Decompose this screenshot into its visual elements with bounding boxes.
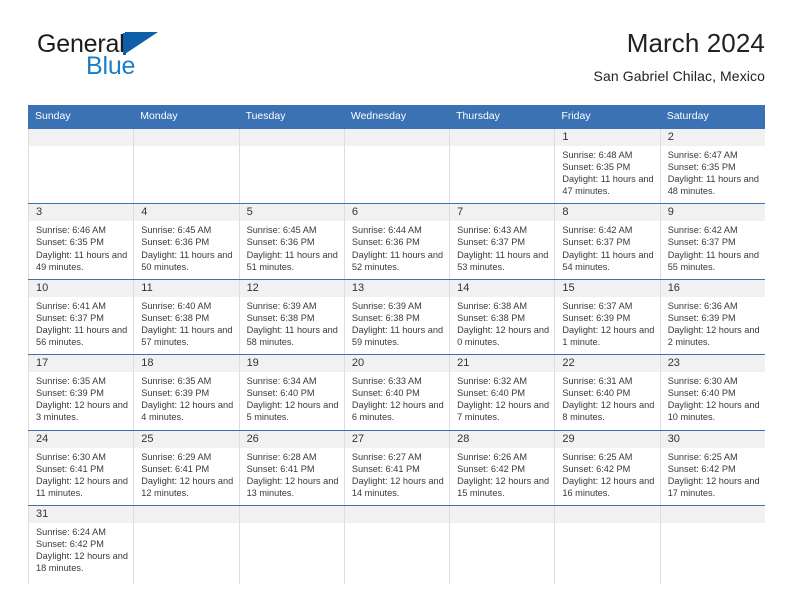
daylight-text: Daylight: 11 hours and 58 minutes.	[247, 324, 340, 348]
day-cell[interactable]	[239, 506, 344, 584]
day-details: Sunrise: 6:48 AMSunset: 6:35 PMDaylight:…	[555, 146, 659, 203]
day-details	[345, 146, 449, 155]
day-details: Sunrise: 6:38 AMSunset: 6:38 PMDaylight:…	[450, 297, 554, 354]
day-cell[interactable]	[660, 506, 765, 584]
sunset-text: Sunset: 6:40 PM	[247, 387, 340, 399]
day-cell[interactable]: 19Sunrise: 6:34 AMSunset: 6:40 PMDayligh…	[239, 355, 344, 429]
week-row: 17Sunrise: 6:35 AMSunset: 6:39 PMDayligh…	[28, 354, 765, 429]
sunset-text: Sunset: 6:41 PM	[36, 463, 129, 475]
day-number	[661, 506, 765, 523]
day-number: 24	[29, 431, 133, 448]
sunrise-text: Sunrise: 6:35 AM	[36, 375, 129, 387]
sunrise-text: Sunrise: 6:44 AM	[352, 224, 445, 236]
day-details	[134, 523, 238, 532]
day-details	[345, 523, 449, 532]
day-details: Sunrise: 6:44 AMSunset: 6:36 PMDaylight:…	[345, 221, 449, 278]
day-number	[450, 506, 554, 523]
day-cell[interactable]: 3Sunrise: 6:46 AMSunset: 6:35 PMDaylight…	[28, 204, 133, 278]
day-cell[interactable]: 30Sunrise: 6:25 AMSunset: 6:42 PMDayligh…	[660, 431, 765, 505]
weekday-thursday: Thursday	[449, 105, 554, 128]
daylight-text: Daylight: 11 hours and 56 minutes.	[36, 324, 129, 348]
day-cell[interactable]: 8Sunrise: 6:42 AMSunset: 6:37 PMDaylight…	[554, 204, 659, 278]
day-details: Sunrise: 6:31 AMSunset: 6:40 PMDaylight:…	[555, 372, 659, 429]
daylight-text: Daylight: 12 hours and 2 minutes.	[668, 324, 761, 348]
page-title: March 2024	[594, 26, 765, 60]
daylight-text: Daylight: 12 hours and 1 minute.	[562, 324, 655, 348]
sunrise-text: Sunrise: 6:34 AM	[247, 375, 340, 387]
daylight-text: Daylight: 12 hours and 3 minutes.	[36, 399, 129, 423]
day-number: 26	[240, 431, 344, 448]
day-cell[interactable]	[28, 129, 133, 203]
sunset-text: Sunset: 6:42 PM	[668, 463, 761, 475]
sunset-text: Sunset: 6:37 PM	[457, 236, 550, 248]
sunrise-text: Sunrise: 6:48 AM	[562, 149, 655, 161]
day-number: 29	[555, 431, 659, 448]
day-number: 31	[29, 506, 133, 523]
sunrise-text: Sunrise: 6:43 AM	[457, 224, 550, 236]
day-cell[interactable]: 14Sunrise: 6:38 AMSunset: 6:38 PMDayligh…	[449, 280, 554, 354]
day-cell[interactable]: 26Sunrise: 6:28 AMSunset: 6:41 PMDayligh…	[239, 431, 344, 505]
sunset-text: Sunset: 6:40 PM	[562, 387, 655, 399]
day-cell[interactable]: 15Sunrise: 6:37 AMSunset: 6:39 PMDayligh…	[554, 280, 659, 354]
calendar-grid: Sunday Monday Tuesday Wednesday Thursday…	[28, 105, 765, 584]
page-subtitle: San Gabriel Chilac, Mexico	[594, 66, 765, 86]
sunset-text: Sunset: 6:41 PM	[247, 463, 340, 475]
day-details: Sunrise: 6:39 AMSunset: 6:38 PMDaylight:…	[240, 297, 344, 354]
day-cell[interactable]	[133, 129, 238, 203]
day-number: 16	[661, 280, 765, 297]
day-number	[555, 506, 659, 523]
day-details: Sunrise: 6:34 AMSunset: 6:40 PMDaylight:…	[240, 372, 344, 429]
sunrise-text: Sunrise: 6:32 AM	[457, 375, 550, 387]
day-details: Sunrise: 6:39 AMSunset: 6:38 PMDaylight:…	[345, 297, 449, 354]
sunrise-text: Sunrise: 6:39 AM	[247, 300, 340, 312]
day-number: 9	[661, 204, 765, 221]
sunset-text: Sunset: 6:39 PM	[668, 312, 761, 324]
day-details: Sunrise: 6:42 AMSunset: 6:37 PMDaylight:…	[661, 221, 765, 278]
day-cell[interactable]	[449, 506, 554, 584]
day-cell[interactable]: 10Sunrise: 6:41 AMSunset: 6:37 PMDayligh…	[28, 280, 133, 354]
day-cell[interactable]: 17Sunrise: 6:35 AMSunset: 6:39 PMDayligh…	[28, 355, 133, 429]
week-row: 31Sunrise: 6:24 AMSunset: 6:42 PMDayligh…	[28, 505, 765, 584]
week-row: 1Sunrise: 6:48 AMSunset: 6:35 PMDaylight…	[28, 128, 765, 203]
day-cell[interactable]: 24Sunrise: 6:30 AMSunset: 6:41 PMDayligh…	[28, 431, 133, 505]
daylight-text: Daylight: 12 hours and 17 minutes.	[668, 475, 761, 499]
day-cell[interactable]: 16Sunrise: 6:36 AMSunset: 6:39 PMDayligh…	[660, 280, 765, 354]
day-details	[134, 146, 238, 155]
weekday-saturday: Saturday	[660, 105, 765, 128]
daylight-text: Daylight: 12 hours and 15 minutes.	[457, 475, 550, 499]
daylight-text: Daylight: 11 hours and 54 minutes.	[562, 249, 655, 273]
day-cell[interactable]: 31Sunrise: 6:24 AMSunset: 6:42 PMDayligh…	[28, 506, 133, 584]
daylight-text: Daylight: 11 hours and 48 minutes.	[668, 173, 761, 197]
daylight-text: Daylight: 12 hours and 10 minutes.	[668, 399, 761, 423]
sunrise-text: Sunrise: 6:30 AM	[668, 375, 761, 387]
day-number: 27	[345, 431, 449, 448]
day-cell[interactable]	[344, 506, 449, 584]
day-details	[450, 146, 554, 155]
sunset-text: Sunset: 6:38 PM	[247, 312, 340, 324]
day-number: 1	[555, 129, 659, 146]
daylight-text: Daylight: 12 hours and 0 minutes.	[457, 324, 550, 348]
daylight-text: Daylight: 12 hours and 5 minutes.	[247, 399, 340, 423]
day-cell[interactable]: 1Sunrise: 6:48 AMSunset: 6:35 PMDaylight…	[554, 129, 659, 203]
sunset-text: Sunset: 6:39 PM	[36, 387, 129, 399]
sunset-text: Sunset: 6:36 PM	[141, 236, 234, 248]
sunrise-text: Sunrise: 6:25 AM	[562, 451, 655, 463]
day-number: 14	[450, 280, 554, 297]
day-number: 22	[555, 355, 659, 372]
sunrise-text: Sunrise: 6:33 AM	[352, 375, 445, 387]
day-details: Sunrise: 6:47 AMSunset: 6:35 PMDaylight:…	[661, 146, 765, 203]
calendar-page: General Blue March 2024 San Gabriel Chil…	[0, 0, 792, 612]
day-details: Sunrise: 6:25 AMSunset: 6:42 PMDaylight:…	[555, 448, 659, 505]
day-number: 5	[240, 204, 344, 221]
day-details: Sunrise: 6:41 AMSunset: 6:37 PMDaylight:…	[29, 297, 133, 354]
brand-word-blue: Blue	[86, 52, 135, 80]
day-number: 3	[29, 204, 133, 221]
sunrise-text: Sunrise: 6:42 AM	[562, 224, 655, 236]
sunset-text: Sunset: 6:37 PM	[36, 312, 129, 324]
sunrise-text: Sunrise: 6:30 AM	[36, 451, 129, 463]
day-details: Sunrise: 6:40 AMSunset: 6:38 PMDaylight:…	[134, 297, 238, 354]
day-details: Sunrise: 6:45 AMSunset: 6:36 PMDaylight:…	[134, 221, 238, 278]
sunrise-text: Sunrise: 6:45 AM	[141, 224, 234, 236]
daylight-text: Daylight: 12 hours and 18 minutes.	[36, 550, 129, 574]
day-number: 8	[555, 204, 659, 221]
day-details	[555, 523, 659, 532]
day-cell[interactable]	[239, 129, 344, 203]
day-cell[interactable]	[344, 129, 449, 203]
day-cell[interactable]: 7Sunrise: 6:43 AMSunset: 6:37 PMDaylight…	[449, 204, 554, 278]
day-number: 2	[661, 129, 765, 146]
day-number: 23	[661, 355, 765, 372]
week-row: 3Sunrise: 6:46 AMSunset: 6:35 PMDaylight…	[28, 203, 765, 278]
weekday-monday: Monday	[133, 105, 238, 128]
day-details: Sunrise: 6:42 AMSunset: 6:37 PMDaylight:…	[555, 221, 659, 278]
day-details: Sunrise: 6:30 AMSunset: 6:40 PMDaylight:…	[661, 372, 765, 429]
day-number: 21	[450, 355, 554, 372]
daylight-text: Daylight: 11 hours and 47 minutes.	[562, 173, 655, 197]
day-cell[interactable]: 6Sunrise: 6:44 AMSunset: 6:36 PMDaylight…	[344, 204, 449, 278]
day-cell[interactable]: 29Sunrise: 6:25 AMSunset: 6:42 PMDayligh…	[554, 431, 659, 505]
daylight-text: Daylight: 11 hours and 55 minutes.	[668, 249, 761, 273]
weekday-wednesday: Wednesday	[344, 105, 449, 128]
day-number	[345, 129, 449, 146]
daylight-text: Daylight: 11 hours and 52 minutes.	[352, 249, 445, 273]
sunset-text: Sunset: 6:35 PM	[668, 161, 761, 173]
day-number	[134, 506, 238, 523]
day-details: Sunrise: 6:46 AMSunset: 6:35 PMDaylight:…	[29, 221, 133, 278]
daylight-text: Daylight: 12 hours and 16 minutes.	[562, 475, 655, 499]
day-cell[interactable]: 27Sunrise: 6:27 AMSunset: 6:41 PMDayligh…	[344, 431, 449, 505]
sunset-text: Sunset: 6:42 PM	[562, 463, 655, 475]
general-blue-logo: General Blue	[28, 30, 258, 86]
sunset-text: Sunset: 6:36 PM	[352, 236, 445, 248]
day-cell[interactable]: 20Sunrise: 6:33 AMSunset: 6:40 PMDayligh…	[344, 355, 449, 429]
day-cell[interactable]	[133, 506, 238, 584]
sunset-text: Sunset: 6:39 PM	[141, 387, 234, 399]
sunrise-text: Sunrise: 6:37 AM	[562, 300, 655, 312]
sunrise-text: Sunrise: 6:36 AM	[668, 300, 761, 312]
day-cell[interactable]: 4Sunrise: 6:45 AMSunset: 6:36 PMDaylight…	[133, 204, 238, 278]
week-row: 10Sunrise: 6:41 AMSunset: 6:37 PMDayligh…	[28, 279, 765, 354]
day-cell[interactable]	[449, 129, 554, 203]
day-number: 12	[240, 280, 344, 297]
day-details: Sunrise: 6:35 AMSunset: 6:39 PMDaylight:…	[29, 372, 133, 429]
sunrise-text: Sunrise: 6:40 AM	[141, 300, 234, 312]
day-cell[interactable]: 9Sunrise: 6:42 AMSunset: 6:37 PMDaylight…	[660, 204, 765, 278]
week-row: 24Sunrise: 6:30 AMSunset: 6:41 PMDayligh…	[28, 430, 765, 505]
sunrise-text: Sunrise: 6:27 AM	[352, 451, 445, 463]
sunrise-text: Sunrise: 6:38 AM	[457, 300, 550, 312]
sunrise-text: Sunrise: 6:28 AM	[247, 451, 340, 463]
day-details: Sunrise: 6:29 AMSunset: 6:41 PMDaylight:…	[134, 448, 238, 505]
weekday-tuesday: Tuesday	[239, 105, 344, 128]
sunrise-text: Sunrise: 6:25 AM	[668, 451, 761, 463]
day-details: Sunrise: 6:30 AMSunset: 6:41 PMDaylight:…	[29, 448, 133, 505]
day-number: 6	[345, 204, 449, 221]
day-cell[interactable]	[554, 506, 659, 584]
day-number	[345, 506, 449, 523]
sunrise-text: Sunrise: 6:42 AM	[668, 224, 761, 236]
sunset-text: Sunset: 6:36 PM	[247, 236, 340, 248]
daylight-text: Daylight: 12 hours and 4 minutes.	[141, 399, 234, 423]
day-number: 11	[134, 280, 238, 297]
day-details: Sunrise: 6:37 AMSunset: 6:39 PMDaylight:…	[555, 297, 659, 354]
sunrise-text: Sunrise: 6:24 AM	[36, 526, 129, 538]
daylight-text: Daylight: 12 hours and 13 minutes.	[247, 475, 340, 499]
sunset-text: Sunset: 6:38 PM	[457, 312, 550, 324]
day-details	[450, 523, 554, 532]
day-details	[661, 523, 765, 532]
day-cell[interactable]: 2Sunrise: 6:47 AMSunset: 6:35 PMDaylight…	[660, 129, 765, 203]
sunset-text: Sunset: 6:42 PM	[36, 538, 129, 550]
day-number	[240, 129, 344, 146]
blue-triangle-icon	[125, 32, 158, 54]
sunrise-text: Sunrise: 6:45 AM	[247, 224, 340, 236]
sunrise-text: Sunrise: 6:29 AM	[141, 451, 234, 463]
day-cell[interactable]: 28Sunrise: 6:26 AMSunset: 6:42 PMDayligh…	[449, 431, 554, 505]
day-details: Sunrise: 6:45 AMSunset: 6:36 PMDaylight:…	[240, 221, 344, 278]
day-number	[29, 129, 133, 146]
day-cell[interactable]: 5Sunrise: 6:45 AMSunset: 6:36 PMDaylight…	[239, 204, 344, 278]
day-number: 28	[450, 431, 554, 448]
daylight-text: Daylight: 12 hours and 12 minutes.	[141, 475, 234, 499]
sunset-text: Sunset: 6:40 PM	[457, 387, 550, 399]
day-number: 25	[134, 431, 238, 448]
day-number: 20	[345, 355, 449, 372]
day-details: Sunrise: 6:26 AMSunset: 6:42 PMDaylight:…	[450, 448, 554, 505]
day-details: Sunrise: 6:36 AMSunset: 6:39 PMDaylight:…	[661, 297, 765, 354]
sunset-text: Sunset: 6:37 PM	[668, 236, 761, 248]
sunset-text: Sunset: 6:42 PM	[457, 463, 550, 475]
day-cell[interactable]: 11Sunrise: 6:40 AMSunset: 6:38 PMDayligh…	[133, 280, 238, 354]
daylight-text: Daylight: 11 hours and 53 minutes.	[457, 249, 550, 273]
day-number	[134, 129, 238, 146]
day-details	[29, 146, 133, 155]
sunset-text: Sunset: 6:39 PM	[562, 312, 655, 324]
sunrise-text: Sunrise: 6:35 AM	[141, 375, 234, 387]
day-number: 19	[240, 355, 344, 372]
sunset-text: Sunset: 6:41 PM	[141, 463, 234, 475]
daylight-text: Daylight: 11 hours and 57 minutes.	[141, 324, 234, 348]
day-number: 13	[345, 280, 449, 297]
day-details: Sunrise: 6:35 AMSunset: 6:39 PMDaylight:…	[134, 372, 238, 429]
sunset-text: Sunset: 6:37 PM	[562, 236, 655, 248]
daylight-text: Daylight: 12 hours and 11 minutes.	[36, 475, 129, 499]
daylight-text: Daylight: 12 hours and 7 minutes.	[457, 399, 550, 423]
day-details: Sunrise: 6:24 AMSunset: 6:42 PMDaylight:…	[29, 523, 133, 580]
sunset-text: Sunset: 6:35 PM	[562, 161, 655, 173]
day-cell[interactable]: 21Sunrise: 6:32 AMSunset: 6:40 PMDayligh…	[449, 355, 554, 429]
daylight-text: Daylight: 11 hours and 50 minutes.	[141, 249, 234, 273]
sunrise-text: Sunrise: 6:47 AM	[668, 149, 761, 161]
weekday-header-row: Sunday Monday Tuesday Wednesday Thursday…	[28, 105, 765, 128]
weekday-sunday: Sunday	[28, 105, 133, 128]
sunrise-text: Sunrise: 6:46 AM	[36, 224, 129, 236]
day-details: Sunrise: 6:33 AMSunset: 6:40 PMDaylight:…	[345, 372, 449, 429]
day-details: Sunrise: 6:27 AMSunset: 6:41 PMDaylight:…	[345, 448, 449, 505]
day-cell[interactable]: 22Sunrise: 6:31 AMSunset: 6:40 PMDayligh…	[554, 355, 659, 429]
day-number	[450, 129, 554, 146]
sunrise-text: Sunrise: 6:26 AM	[457, 451, 550, 463]
day-number: 4	[134, 204, 238, 221]
page-header: General Blue March 2024 San Gabriel Chil…	[28, 26, 765, 94]
day-number: 17	[29, 355, 133, 372]
day-number: 30	[661, 431, 765, 448]
sunset-text: Sunset: 6:41 PM	[352, 463, 445, 475]
day-number: 10	[29, 280, 133, 297]
sunset-text: Sunset: 6:35 PM	[36, 236, 129, 248]
day-details	[240, 146, 344, 155]
day-number: 7	[450, 204, 554, 221]
daylight-text: Daylight: 11 hours and 49 minutes.	[36, 249, 129, 273]
day-cell[interactable]: 18Sunrise: 6:35 AMSunset: 6:39 PMDayligh…	[133, 355, 238, 429]
day-details: Sunrise: 6:25 AMSunset: 6:42 PMDaylight:…	[661, 448, 765, 505]
day-details	[240, 523, 344, 532]
day-cell[interactable]: 12Sunrise: 6:39 AMSunset: 6:38 PMDayligh…	[239, 280, 344, 354]
sunset-text: Sunset: 6:40 PM	[668, 387, 761, 399]
day-cell[interactable]: 23Sunrise: 6:30 AMSunset: 6:40 PMDayligh…	[660, 355, 765, 429]
day-number: 18	[134, 355, 238, 372]
day-cell[interactable]: 25Sunrise: 6:29 AMSunset: 6:41 PMDayligh…	[133, 431, 238, 505]
daylight-text: Daylight: 12 hours and 14 minutes.	[352, 475, 445, 499]
day-number: 15	[555, 280, 659, 297]
sunrise-text: Sunrise: 6:41 AM	[36, 300, 129, 312]
daylight-text: Daylight: 12 hours and 8 minutes.	[562, 399, 655, 423]
weekday-friday: Friday	[554, 105, 659, 128]
day-details: Sunrise: 6:32 AMSunset: 6:40 PMDaylight:…	[450, 372, 554, 429]
day-number	[240, 506, 344, 523]
title-block: March 2024 San Gabriel Chilac, Mexico	[594, 26, 765, 86]
day-details: Sunrise: 6:28 AMSunset: 6:41 PMDaylight:…	[240, 448, 344, 505]
sunrise-text: Sunrise: 6:31 AM	[562, 375, 655, 387]
sunset-text: Sunset: 6:38 PM	[141, 312, 234, 324]
daylight-text: Daylight: 12 hours and 6 minutes.	[352, 399, 445, 423]
sunset-text: Sunset: 6:40 PM	[352, 387, 445, 399]
daylight-text: Daylight: 11 hours and 51 minutes.	[247, 249, 340, 273]
day-details: Sunrise: 6:43 AMSunset: 6:37 PMDaylight:…	[450, 221, 554, 278]
daylight-text: Daylight: 11 hours and 59 minutes.	[352, 324, 445, 348]
sunset-text: Sunset: 6:38 PM	[352, 312, 445, 324]
day-cell[interactable]: 13Sunrise: 6:39 AMSunset: 6:38 PMDayligh…	[344, 280, 449, 354]
sunrise-text: Sunrise: 6:39 AM	[352, 300, 445, 312]
